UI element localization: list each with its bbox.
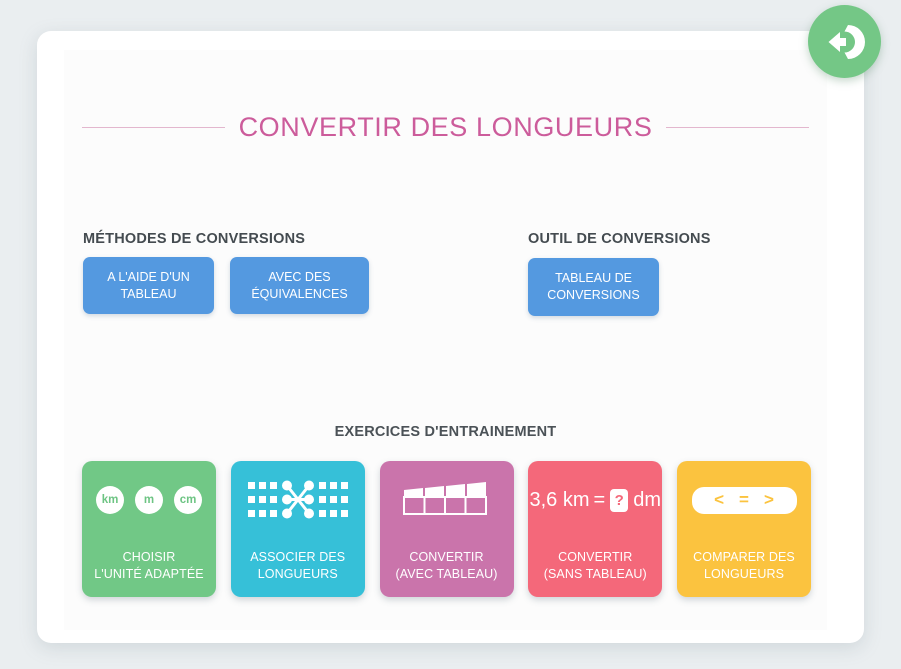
exercise-card-convertir-sans-tableau[interactable]: 3,6 km = ? dm CONVERTIR (SANS TABLEAU) xyxy=(528,461,662,597)
compare-operators-icon: < = > xyxy=(677,461,811,539)
operator-equals: = xyxy=(739,490,749,510)
exercise-card-choisir-unite[interactable]: km m cm CHOISIR L'UNITÉ ADAPTÉE xyxy=(82,461,216,597)
equation-left-term: 3,6 km xyxy=(529,489,589,512)
tool-button-tableau-de-conversions[interactable]: TABLEAU DE CONVERSIONS xyxy=(528,258,659,316)
exercise-card-convertir-avec-tableau[interactable]: CONVERTIR (AVEC TABLEAU) xyxy=(380,461,514,597)
method-button-equivalences[interactable]: AVEC DES ÉQUIVALENCES xyxy=(230,257,369,314)
title-rule-right xyxy=(666,127,809,128)
conversion-table-icon xyxy=(380,461,514,539)
equation-unknown-box: ? xyxy=(610,489,628,512)
content-sheet: CONVERTIR DES LONGUEURS MÉTHODES DE CONV… xyxy=(64,50,827,630)
page-title: CONVERTIR DES LONGUEURS xyxy=(239,112,653,143)
exercise-cards-row: km m cm CHOISIR L'UNITÉ ADAPTÉE xyxy=(82,461,811,597)
operator-less-than: < xyxy=(714,490,724,510)
exercise-card-label: CONVERTIR (AVEC TABLEAU) xyxy=(383,549,511,583)
unit-circles-icon: km m cm xyxy=(82,461,216,539)
page-title-row: CONVERTIR DES LONGUEURS xyxy=(82,112,809,143)
unit-circle-m: m xyxy=(135,486,163,514)
equation-equals-sign: = xyxy=(594,489,606,512)
exercise-card-label: COMPARER DES LONGUEURS xyxy=(680,549,808,583)
exercise-card-associer-longueurs[interactable]: ASSOCIER DES LONGUEURS xyxy=(231,461,365,597)
exit-button[interactable] xyxy=(808,5,881,78)
exercises-section-label: EXERCICES D'ENTRAINEMENT xyxy=(64,424,827,440)
exercise-card-label: CONVERTIR (SANS TABLEAU) xyxy=(531,549,659,583)
matching-lines-icon xyxy=(231,461,365,539)
unit-circle-cm: cm xyxy=(174,486,202,514)
exercise-card-label: CHOISIR L'UNITÉ ADAPTÉE xyxy=(85,549,213,583)
methods-section-label: MÉTHODES DE CONVERSIONS xyxy=(83,231,305,247)
main-panel: CONVERTIR DES LONGUEURS MÉTHODES DE CONV… xyxy=(37,31,864,643)
exercise-card-comparer-longueurs[interactable]: < = > COMPARER DES LONGUEURS xyxy=(677,461,811,597)
method-button-avec-tableau[interactable]: A L'AIDE D'UN TABLEAU xyxy=(83,257,214,314)
unit-circle-km: km xyxy=(96,486,124,514)
tool-section-label: OUTIL DE CONVERSIONS xyxy=(528,231,711,247)
equation-icon: 3,6 km = ? dm xyxy=(528,461,662,539)
operator-greater-than: > xyxy=(764,490,774,510)
equation-right-unit: dm xyxy=(633,489,661,512)
exit-arrow-icon xyxy=(822,19,868,65)
exercise-card-label: ASSOCIER DES LONGUEURS xyxy=(234,549,362,583)
title-rule-left xyxy=(82,127,225,128)
